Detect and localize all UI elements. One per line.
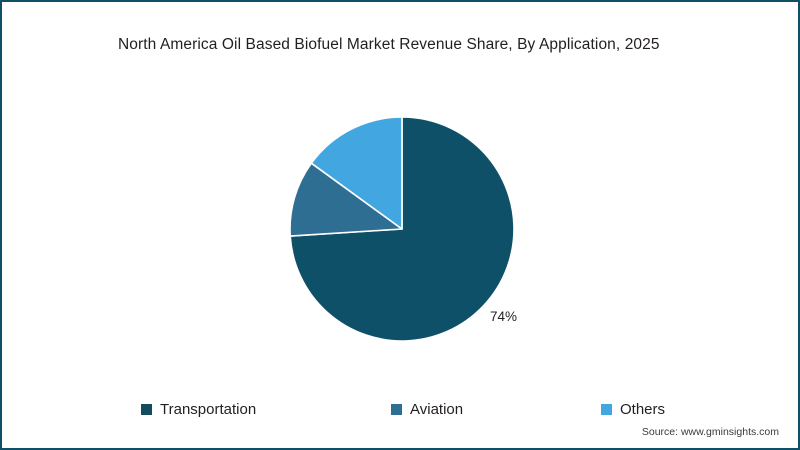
legend-swatch-aviation — [391, 404, 402, 415]
pie-chart — [284, 111, 520, 347]
chart-card: North America Oil Based Biofuel Market R… — [0, 0, 800, 450]
legend-label-transportation: Transportation — [160, 401, 256, 418]
legend-label-others: Others — [620, 401, 665, 418]
legend-label-aviation: Aviation — [410, 401, 463, 418]
legend-swatch-others — [601, 404, 612, 415]
legend-item-transportation[interactable]: Transportation — [141, 396, 256, 422]
legend-swatch-transportation — [141, 404, 152, 415]
legend-item-aviation[interactable]: Aviation — [391, 396, 463, 422]
legend-item-others[interactable]: Others — [601, 396, 665, 422]
pie-slice-group — [290, 117, 514, 341]
chart-title: North America Oil Based Biofuel Market R… — [118, 36, 758, 54]
chart-legend: Transportation Aviation Others — [2, 396, 800, 422]
pie-slice-value-label-transportation: 74% — [490, 309, 517, 324]
source-attribution: Source: www.gminsights.com — [642, 426, 779, 438]
pie-chart-svg — [284, 111, 520, 347]
